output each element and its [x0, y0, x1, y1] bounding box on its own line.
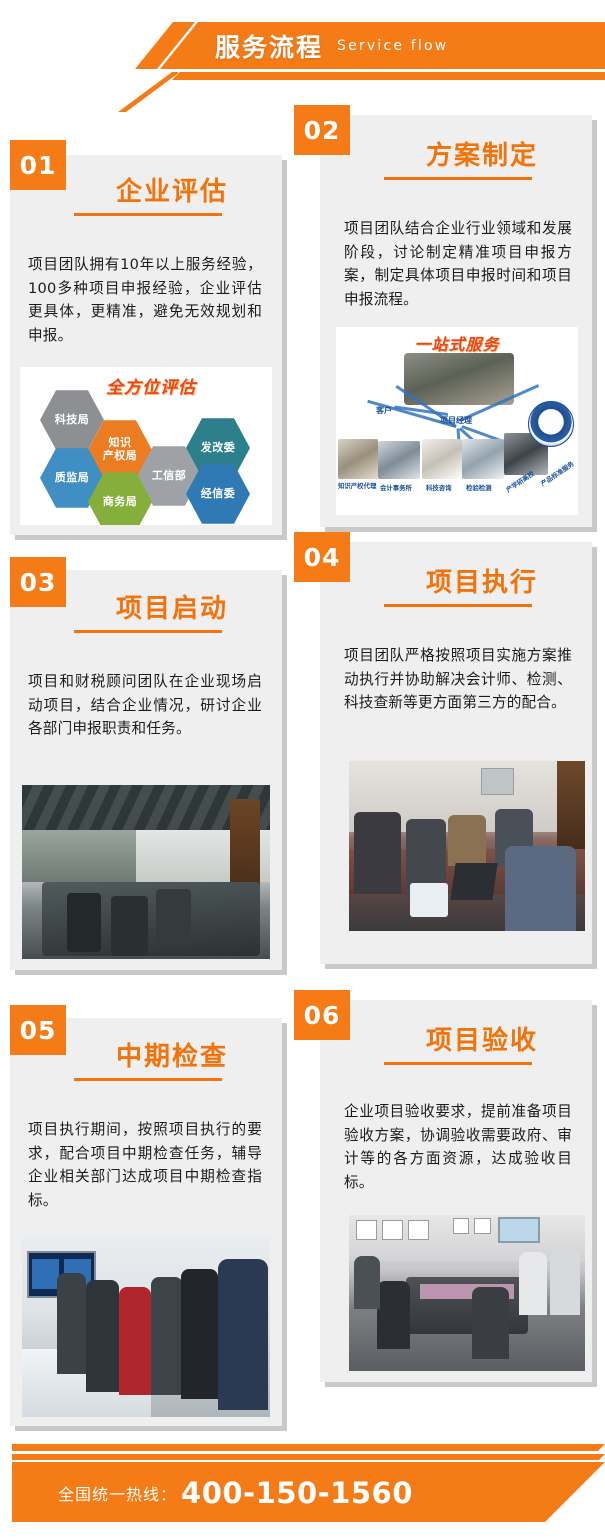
card-number-badge: 01 [10, 140, 66, 190]
footer-accent-line-bottom [12, 1454, 605, 1460]
process-card-01[interactable]: 01 企业评估 项目团队拥有10年以上服务经验，100多种项目申报经验，企业评估… [10, 155, 282, 535]
figure-node-photo [378, 441, 420, 479]
process-card-06[interactable]: 06 项目验收 企业项目验收要求，提前准备项目验收方案，协调验收需要政府、审计等… [320, 1000, 592, 1382]
figure-node-photo [338, 439, 378, 479]
title-underline [384, 604, 532, 607]
card-body-text: 项目和财税顾问团队在企业现场启动项目，结合企业情况，研讨企业各部门申报职责和任务… [28, 670, 262, 741]
card-number: 03 [20, 568, 57, 597]
title-underline [74, 630, 222, 633]
card-title: 项目验收 [320, 1020, 592, 1065]
footer-hotline: 全国统一热线： 400-150-1560 [58, 1476, 413, 1510]
card-title-text: 项目执行 [426, 568, 538, 598]
card-number-badge: 05 [10, 1005, 66, 1055]
title-underline [384, 177, 532, 180]
card-title-text: 中期检查 [116, 1042, 228, 1072]
figure-title: 一站式服务 [336, 331, 578, 355]
figure-certification-seal [528, 401, 574, 447]
card-number-badge: 02 [294, 105, 350, 155]
card-body-text: 企业项目验收要求，提前准备项目验收方案，协调验收需要政府、审计等的各方面资源，达… [344, 1100, 572, 1195]
process-card-05[interactable]: 05 中期检查 项目执行期间，按照项目执行的要求，配合项目中期检查任务，辅导企业… [10, 1018, 282, 1426]
card-title: 方案制定 [320, 135, 592, 180]
page-title: 服务流程 [215, 28, 323, 64]
page-subtitle: Service flow [337, 38, 448, 54]
card-figure-one-stop-service: 一站式服务 客户 项目经理 知识产权代理 会计事务所 科技咨询 检验检测 产学研… [336, 327, 578, 515]
card-number: 06 [304, 1001, 341, 1030]
figure-node-label: 会计事务所 [380, 483, 412, 492]
card-title-text: 项目验收 [426, 1026, 538, 1056]
card-number: 01 [20, 151, 57, 180]
card-title-text: 方案制定 [426, 141, 538, 171]
card-photo-acceptance-meeting [342, 1208, 592, 1378]
figure-node-label: 检验检测 [466, 483, 492, 492]
card-number-badge: 04 [294, 532, 350, 582]
process-card-04[interactable]: 04 项目执行 项目团队严格按照项目实施方案推动执行并协助解决会计师、检测、科技… [320, 542, 592, 964]
card-body-text: 项目执行期间，按照项目执行的要求，配合项目中期检查任务，辅导企业相关部门达成项目… [28, 1118, 262, 1213]
card-photo-execution-meeting [342, 754, 592, 938]
card-number-badge: 03 [10, 557, 66, 607]
footer-accent-line-top [12, 1444, 605, 1451]
figure-node-label: 科技咨询 [426, 483, 452, 492]
hotline-label: 全国统一热线： [58, 1481, 177, 1505]
figure-node-photo [422, 439, 462, 479]
process-card-03[interactable]: 03 项目启动 项目和财税顾问团队在企业现场启动项目，结合企业情况，研讨企业各部… [10, 570, 282, 970]
figure-label-customer: 客户 [376, 405, 392, 416]
card-body-text: 项目团队严格按照项目实施方案推动执行并协助解决会计师、检测、科技查新等更方面第三… [344, 644, 572, 715]
header-underline-tail [118, 72, 178, 112]
card-photo-meeting-room [15, 778, 277, 966]
figure-node-photo [462, 439, 504, 479]
figure-hub-photo [404, 353, 514, 405]
card-number-badge: 06 [294, 990, 350, 1040]
title-underline [74, 1078, 222, 1081]
title-underline [384, 1062, 532, 1065]
card-title-text: 企业评估 [116, 177, 228, 207]
title-underline [74, 213, 222, 216]
figure-label-project-manager: 项目经理 [440, 415, 472, 426]
card-title: 项目执行 [320, 562, 592, 607]
card-figure-hexagon-cluster: 全方位评估 科技局 知识产权局 发改委 质监局 工信部 经信委 商务局 [20, 367, 272, 525]
figure-title: 全方位评估 [106, 373, 196, 398]
hotline-number[interactable]: 400-150-1560 [181, 1476, 413, 1510]
process-card-02[interactable]: 02 方案制定 项目团队结合企业行业领域和发展阶段，讨论制定精准项目申报方案，制… [320, 115, 592, 527]
page-footer: 全国统一热线： 400-150-1560 [0, 1420, 605, 1538]
card-number: 05 [20, 1016, 57, 1045]
card-body-text: 项目团队结合企业行业领域和发展阶段，讨论制定精准项目申报方案，制定具体项目申报时… [344, 217, 572, 312]
figure-node-label: 知识产权代理 [338, 481, 376, 490]
card-body-text: 项目团队拥有10年以上服务经验，100多种项目申报经验，企业评估更具体，更精准，… [28, 253, 262, 348]
card-title-text: 项目启动 [116, 594, 228, 624]
page-header: 服务流程 Service flow [0, 0, 605, 110]
card-number: 02 [304, 116, 341, 145]
header-underline [172, 72, 605, 80]
card-photo-site-inspection [15, 1230, 277, 1424]
card-number: 04 [304, 543, 341, 572]
header-title-group: 服务流程 Service flow [215, 25, 605, 67]
